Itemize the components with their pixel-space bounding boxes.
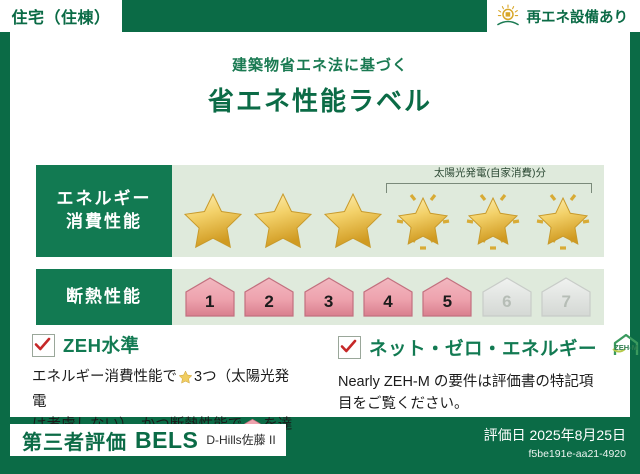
insulation-level-number: 2 (243, 292, 295, 312)
insulation-level-tile: 4 (362, 275, 414, 319)
zeh-m-logo-icon: ZEH-M Nearly ZEH-M (609, 332, 640, 363)
insulation-level-scale: 1 2 3 (172, 269, 604, 325)
energy-performance-label: 住宅（住棟） 再エネ設備あり (0, 0, 640, 474)
insulation-level-tile: 2 (243, 275, 295, 319)
insulation-performance-key: 断熱性能 (36, 269, 172, 325)
net-zero-energy-text-line1: Nearly ZEH-M の要件は評価書の特記項 (338, 371, 608, 393)
svg-text:ZEH-M: ZEH-M (614, 343, 638, 352)
inline-star-icon (178, 369, 193, 391)
energy-performance-value: 太陽光発電(自家消費)分 (172, 165, 604, 257)
label-footer: 第三者評価 BELS D-Hills佐藤 II 評価日 2025年8月25日 f… (0, 417, 640, 474)
star-solar (390, 185, 456, 251)
evaluation-id: f5be191e-aa21-4920 (484, 448, 626, 460)
star-plain (180, 185, 246, 251)
insulation-level-number: 6 (481, 292, 533, 312)
zeh-standard-header: ZEH水準 (32, 332, 302, 358)
energy-key-line2: 消費性能 (66, 211, 142, 234)
building-type-tab-label: 住宅（住棟） (11, 4, 110, 28)
insulation-level-number: 4 (362, 292, 414, 312)
energy-star-rating (172, 165, 604, 257)
label-subtitle: 建築物省エネ法に基づく (10, 54, 630, 75)
evaluation-info: 評価日 2025年8月25日 f5be191e-aa21-4920 (484, 425, 626, 460)
insulation-key-label: 断熱性能 (66, 286, 142, 309)
label-card: 建築物省エネ法に基づく 省エネ性能ラベル エネルギー 消費性能 太陽光発電(自家… (10, 32, 630, 417)
star-solar (460, 185, 526, 251)
star-plain (320, 185, 386, 251)
insulation-level-tile-inactive: 7 (540, 275, 592, 319)
insulation-level-tile: 5 (421, 275, 473, 319)
label-title-block: 建築物省エネ法に基づく 省エネ性能ラベル (10, 54, 630, 118)
insulation-performance-value: 1 2 3 (172, 269, 604, 325)
zeh-standard-checkbox (32, 334, 55, 357)
net-zero-energy-title: ネット・ゼロ・エネルギー (369, 335, 597, 361)
net-zero-energy-checkbox (338, 336, 361, 359)
insulation-performance-row: 断熱性能 (36, 269, 604, 325)
insulation-level-number: 3 (303, 292, 355, 312)
bels-en-label: BELS (135, 427, 198, 454)
insulation-level-number: 5 (421, 292, 473, 312)
star-plain (250, 185, 316, 251)
energy-performance-key: エネルギー 消費性能 (36, 165, 172, 257)
energy-key-line1: エネルギー (57, 188, 152, 211)
renewable-energy-badge: 再エネ設備あり (487, 0, 640, 32)
net-zero-energy-body: Nearly ZEH-M の要件は評価書の特記項 目をご覧ください。 (338, 371, 608, 416)
solar-sun-icon (495, 4, 521, 28)
building-type-tab: 住宅（住棟） (0, 0, 122, 32)
net-zero-energy-text-line2: 目をご覧ください。 (338, 393, 608, 415)
insulation-level-number: 7 (540, 292, 592, 312)
insulation-level-tile-inactive: 6 (481, 275, 533, 319)
insulation-level-tile: 1 (184, 275, 236, 319)
net-zero-energy-header: ネット・ゼロ・エネルギー ZEH-M Nearly ZEH-M (338, 332, 608, 363)
insulation-level-tile: 3 (303, 275, 355, 319)
bels-certification-plate: 第三者評価 BELS D-Hills佐藤 II (10, 424, 286, 456)
bels-jp-label: 第三者評価 (22, 426, 127, 455)
star-solar (530, 185, 596, 251)
building-name: D-Hills佐藤 II (206, 431, 275, 449)
insulation-level-number: 1 (184, 292, 236, 312)
label-main-title: 省エネ性能ラベル (10, 81, 630, 118)
renewable-energy-badge-label: 再エネ設備あり (527, 6, 629, 27)
zeh-standard-text-1: エネルギー消費性能で (32, 369, 177, 385)
energy-performance-row: エネルギー 消費性能 太陽光発電(自家消費)分 (36, 165, 604, 257)
evaluation-date: 評価日 2025年8月25日 (484, 425, 626, 445)
zeh-standard-title: ZEH水準 (63, 332, 140, 358)
